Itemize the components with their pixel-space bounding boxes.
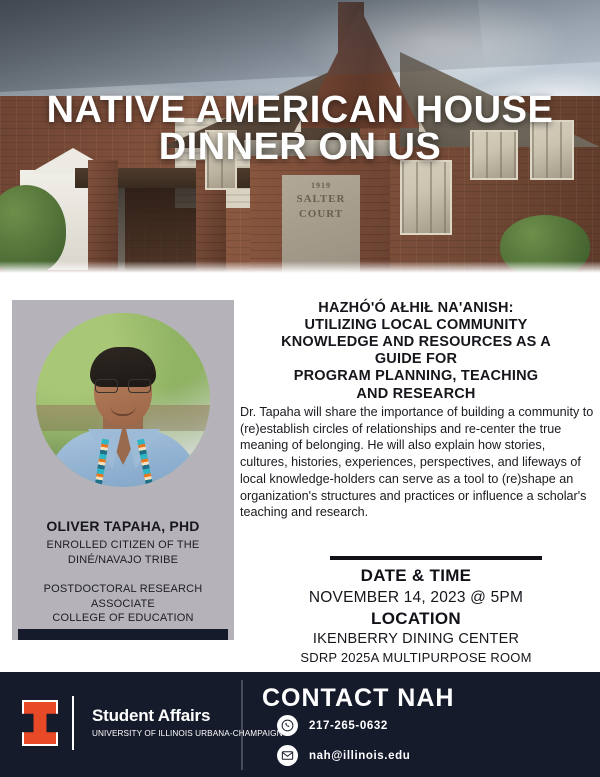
porch-pillar [88, 160, 118, 275]
speaker-affiliation: ENROLLED CITIZEN OF THE DINÉ/NAVAJO TRIB… [18, 538, 228, 567]
location-value: IKENBERRY DINING CENTER [240, 631, 592, 647]
window [400, 160, 452, 235]
building-sign-year: 1919 [282, 181, 360, 192]
portrait-glasses [94, 379, 152, 394]
contact-phone-row[interactable]: 217-265-0632 [277, 715, 388, 736]
location-heading: LOCATION [240, 609, 592, 629]
contact-heading: CONTACT NAH [262, 684, 454, 713]
organization-subtitle: UNIVERSITY OF ILLINOIS URBANA-CHAMPAIGN [92, 729, 283, 738]
contact-email-row[interactable]: nah@illinois.edu [277, 745, 410, 766]
organization-title: Student Affairs [92, 706, 210, 726]
logo-divider [72, 696, 74, 750]
phone-number: 217-265-0632 [309, 720, 388, 732]
email-address: nah@illinois.edu [309, 750, 410, 762]
event-poster: 1919 SALTER COURT NATIVE AMERICAN HOUSE … [0, 0, 600, 777]
panel-accent-bar [18, 629, 228, 640]
speaker-portrait [36, 313, 210, 487]
speaker-role: POSTDOCTORAL RESEARCH ASSOCIATECOLLEGE O… [18, 582, 228, 626]
photo-bottom-fade [0, 261, 600, 275]
section-divider [330, 556, 542, 560]
location-room: SDRP 2025A MULTIPURPOSE ROOM [240, 650, 592, 665]
phone-icon [277, 715, 298, 736]
speaker-name: OLIVER TAPAHA, PHD [12, 518, 234, 534]
envelope-icon [277, 745, 298, 766]
illinois-block-i-logo [22, 700, 58, 746]
building-sign-name: SALTER COURT [296, 193, 345, 220]
footer-divider [241, 680, 243, 770]
poster-title-line-2: DINNER ON US [0, 129, 600, 166]
speaker-panel: OLIVER TAPAHA, PHD ENROLLED CITIZEN OF T… [12, 300, 234, 640]
talk-description: Dr. Tapaha will share the importance of … [240, 404, 594, 521]
date-time-heading: DATE & TIME [240, 566, 592, 586]
date-time-value: NOVEMBER 14, 2023 @ 5PM [240, 589, 592, 607]
poster-title-line-1: NATIVE AMERICAN HOUSE [47, 89, 554, 131]
talk-title: HAZHÓ'Ó AŁHIŁ NA'ANISH:UTILIZING LOCAL C… [240, 300, 592, 403]
poster-title: NATIVE AMERICAN HOUSE DINNER ON US [0, 92, 600, 166]
building-name-stone: 1919 SALTER COURT [282, 175, 360, 275]
